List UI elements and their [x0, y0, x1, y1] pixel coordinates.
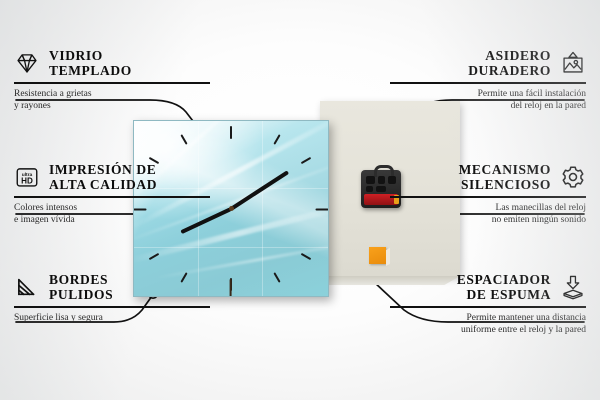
clock-tick-5 [273, 272, 280, 283]
clock-tick-12 [230, 126, 232, 139]
artwork-grid-line [262, 121, 263, 296]
feature-title: TEMPLADO [49, 63, 132, 78]
feature-desc: Resistencia a grietas [14, 88, 229, 100]
clock-tick-11 [180, 134, 187, 145]
clock-tick-2 [300, 157, 311, 164]
foam-spacer [369, 247, 386, 264]
ultra-hd-icon: ultra HD [14, 164, 40, 190]
clock-tick-1 [273, 134, 280, 145]
clock-minute-hand [230, 170, 289, 210]
feature-desc: Permite una fácil instalación [371, 88, 586, 100]
feature-rule [390, 82, 586, 84]
feature-espaciador-de-espuma[interactable]: ESPACIADOR DE ESPUMA Permite mantener un… [371, 272, 586, 336]
diamond-icon [14, 50, 40, 76]
feature-title: ALTA CALIDAD [49, 177, 157, 192]
feature-title: ASIDERO [468, 48, 551, 63]
feature-rule [14, 306, 210, 308]
feature-desc: Permite mantener una distancia [371, 312, 586, 324]
foam-spacer-icon [560, 274, 586, 300]
feature-desc: uniforme entre el reloj y la pared [371, 324, 586, 336]
hanging-frame-icon [560, 50, 586, 76]
svg-text:HD: HD [21, 177, 33, 186]
feature-title: BORDES [49, 272, 113, 287]
feature-asidero-duradero[interactable]: ASIDERO DURADERO Permite una fácil insta… [371, 48, 586, 112]
feature-impresion-alta-calidad[interactable]: ultra HD IMPRESIÓN DE ALTA CALIDAD Color… [14, 162, 229, 226]
gear-icon [560, 164, 586, 190]
feature-title: VIDRIO [49, 48, 132, 63]
feature-desc: e imagen vívida [14, 214, 229, 226]
feature-mecanismo-silencioso[interactable]: MECANISMO SILENCIOSO Las manecillas del … [371, 162, 586, 226]
infographic-canvas: VIDRIO TEMPLADO Resistencia a grietas y … [0, 0, 600, 400]
feature-title: PULIDOS [49, 287, 113, 302]
feature-title: DE ESPUMA [457, 287, 551, 302]
feature-title: MECANISMO [459, 162, 551, 177]
feature-desc: y rayones [14, 100, 229, 112]
feature-bordes-pulidos[interactable]: BORDES PULIDOS Superficie lisa y segura [14, 272, 229, 324]
feature-title: DURADERO [468, 63, 551, 78]
clock-center-hub [229, 206, 234, 211]
feature-rule [14, 196, 210, 198]
clock-second-hand [230, 279, 232, 297]
feature-desc: no emiten ningún sonido [371, 214, 586, 226]
feature-title: ESPACIADOR [457, 272, 551, 287]
clock-tick-4 [300, 253, 311, 260]
feature-vidrio-templado[interactable]: VIDRIO TEMPLADO Resistencia a grietas y … [14, 48, 229, 112]
feature-desc: Colores intensos [14, 202, 229, 214]
feature-rule [390, 306, 586, 308]
feature-rule [390, 196, 586, 198]
clock-tick-3 [316, 208, 329, 210]
feature-title: SILENCIOSO [459, 177, 551, 192]
polished-edges-icon [14, 274, 40, 300]
feature-title: IMPRESIÓN DE [49, 162, 157, 177]
artwork-grid-line [134, 247, 328, 248]
feature-desc: del reloj en la pared [371, 100, 586, 112]
feature-desc: Las manecillas del reloj [371, 202, 586, 214]
feature-rule [14, 82, 210, 84]
feature-desc: Superficie lisa y segura [14, 312, 229, 324]
